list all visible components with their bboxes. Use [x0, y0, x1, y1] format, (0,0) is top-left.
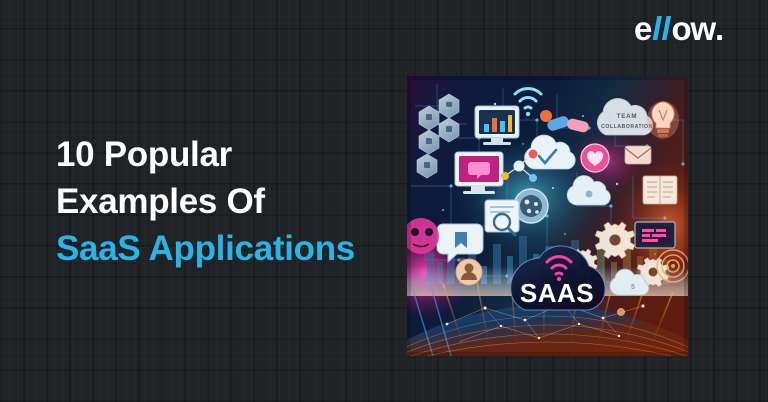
- user-icon: [456, 259, 482, 285]
- logo-letters-ll: ll: [651, 12, 671, 46]
- ellow-logo[interactable]: ellow.: [634, 12, 723, 46]
- globe-hotspot: [617, 308, 625, 316]
- envelope-icon: [625, 146, 651, 164]
- logo-dot: .: [715, 12, 723, 46]
- team-cloud-label-line1: TEAM: [617, 113, 638, 120]
- logo-letter-e: e: [634, 12, 651, 46]
- heart-icon: [581, 144, 609, 172]
- logo-letters-ow: ow: [672, 12, 715, 46]
- headline-line-1: 10 Popular: [56, 131, 406, 178]
- page-title: 10 Popular Examples Of SaaS Applications: [56, 131, 406, 272]
- saas-concept-illustration: TEAM COLLABORATION: [407, 76, 688, 356]
- banner-root: ellow. 10 Popular Examples Of SaaS Appli…: [0, 0, 768, 402]
- svg-text:5: 5: [631, 284, 635, 291]
- headline-line-2: Examples Of: [56, 178, 406, 225]
- screen-panel-icon: [635, 222, 675, 248]
- book-icon: [643, 176, 677, 204]
- target-icon: [657, 250, 688, 282]
- lightbulb-icon: [647, 101, 679, 139]
- team-cloud-label-line2: COLLABORATION: [601, 124, 653, 130]
- headline-line-3: SaaS Applications: [56, 225, 406, 272]
- search-icon: [485, 200, 519, 235]
- saas-cloud-label: SAAS: [520, 278, 594, 308]
